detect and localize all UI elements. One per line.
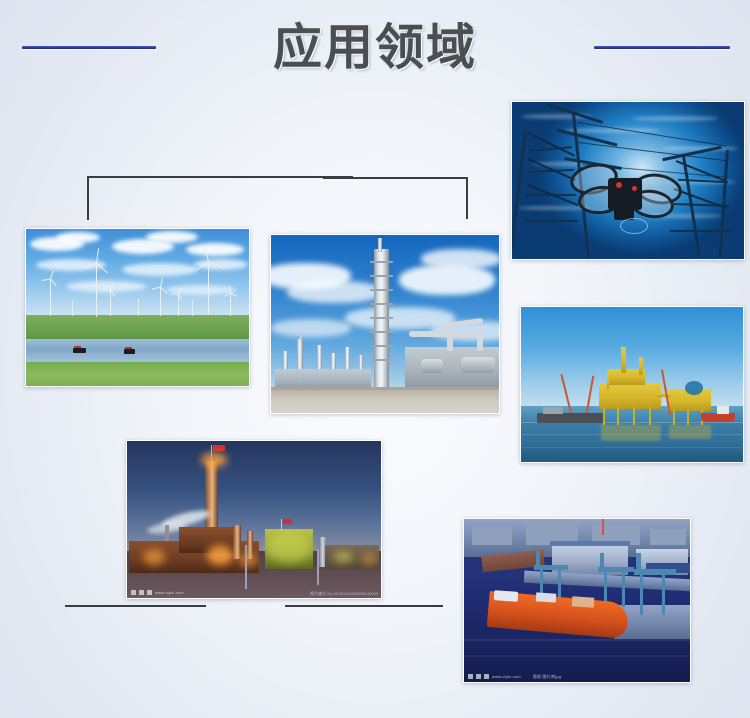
application-fields-banner: 应用领域 (0, 0, 750, 718)
wind-turbine-mast (192, 300, 193, 316)
cloud-streak (632, 116, 718, 121)
column-platform (370, 303, 393, 305)
watermark-icon (147, 590, 152, 595)
platform-leg (603, 407, 605, 425)
distillation-column (233, 525, 241, 559)
horse-figure (73, 348, 86, 353)
wind-turbine-blade (172, 294, 179, 295)
wind-turbine-mast (50, 279, 51, 316)
platform-leg (673, 409, 675, 425)
wind-turbine-mast (230, 292, 231, 316)
cloud-shape (186, 243, 244, 256)
wind-turbine-mast (72, 301, 73, 316)
drone-landing-gear (620, 218, 648, 234)
chimney-stack (602, 519, 604, 535)
ship-cargo-hatch (572, 596, 595, 608)
cloud-shape (56, 232, 100, 243)
cloud-shape (271, 319, 351, 337)
cloud-shape (122, 263, 198, 276)
lamp-glow (361, 553, 377, 565)
vertical-pipe (447, 325, 453, 351)
flag-pole (281, 519, 282, 531)
lamp-post (317, 549, 319, 585)
water-highlight (464, 655, 690, 657)
ship-superstructure (494, 590, 519, 602)
wind-turbine-mast (160, 286, 161, 316)
wind-turbine-mast (208, 261, 209, 315)
lamp-post (245, 545, 247, 589)
power-tower-scene (512, 102, 744, 259)
storage-tank (421, 359, 443, 373)
platform-leg (633, 407, 635, 425)
connector-baseline-right (285, 605, 443, 607)
lamp-glow (201, 453, 227, 467)
wind-farm-scene (26, 229, 249, 386)
lamp-glow (143, 549, 165, 565)
wave-line (521, 447, 743, 448)
power-transmission-tower-photo[interactable] (511, 101, 745, 260)
crane-tower (600, 553, 604, 569)
connecting-bridge (657, 393, 671, 397)
watermark-icon (131, 590, 136, 595)
offshore-platform-scene (521, 307, 743, 462)
port-terminal-scene: www.vipix.com 版权 图片库jpg (464, 519, 690, 682)
column-platform (370, 359, 393, 361)
title-rule-right (594, 46, 730, 49)
watermark-text: www.vipix.com (155, 590, 184, 595)
barge-superstructure (543, 407, 563, 414)
lamp-glow (239, 553, 257, 567)
vessel-bridge (717, 406, 729, 414)
terminal-building (650, 529, 686, 545)
terminal-building (472, 527, 512, 545)
tower-cross-arm (670, 230, 732, 232)
crane-boom (607, 373, 609, 389)
flare-stack (639, 357, 643, 375)
pipe-rack (409, 331, 475, 337)
connector-bracket-left-vertical (87, 176, 89, 220)
water-reflection (669, 425, 711, 439)
petrochemical-plant-scene (271, 235, 499, 413)
crane-leg (622, 571, 625, 607)
petrochemical-plant-photo[interactable] (270, 234, 500, 414)
process-unit-block (275, 369, 371, 389)
column-stack (378, 238, 382, 252)
offshore-oil-platform-photo[interactable] (520, 306, 744, 463)
ground-layer (271, 390, 499, 413)
crane-tower (536, 551, 540, 567)
vertical-pipe (477, 327, 483, 351)
wind-turbine-mast (110, 289, 111, 316)
watermark-text-secondary: 版权 图片库jpg (533, 674, 561, 680)
ship-deck-house (536, 592, 557, 602)
lamp-glow (207, 545, 233, 565)
port-terminal-photo[interactable]: www.vipix.com 版权 图片库jpg (463, 518, 691, 683)
storage-tank (461, 357, 495, 373)
foreground-meadow-layer (26, 362, 249, 386)
cloud-shape (421, 249, 500, 269)
watermark-left: www.vipix.com 版权 图片库jpg (464, 671, 690, 682)
ground-edge (271, 387, 499, 390)
connector-bracket-left (87, 176, 353, 220)
supply-vessel (701, 413, 735, 422)
connector-bracket-right-vertical (466, 177, 468, 219)
pond-layer (26, 339, 249, 364)
derrick-mast (621, 347, 626, 373)
drone-indicator-light (632, 186, 637, 191)
platform-leg (649, 407, 651, 425)
watermark-icon (468, 674, 473, 679)
support-barge (537, 413, 603, 423)
connector-bracket-right (323, 177, 468, 219)
drone-indicator-light (616, 182, 622, 188)
column-platform (370, 261, 393, 263)
connector-bracket-right-horizontal (323, 177, 468, 179)
horse-figure (124, 349, 135, 354)
warehouse-roof (550, 541, 630, 546)
flag (283, 519, 292, 524)
watermark-right: 图片编号 No.20130416385025140003 (310, 591, 378, 597)
distillation-column (374, 249, 389, 389)
crane-leg (662, 573, 665, 615)
cloud-shape (146, 231, 198, 243)
crane-leg (640, 573, 643, 615)
wind-farm-photo[interactable] (25, 228, 250, 387)
flag (213, 445, 225, 451)
watermark-icon (484, 674, 489, 679)
platform-equipment (685, 381, 703, 395)
lamp-glow (267, 533, 311, 563)
refinery-night-scene: www.vipix.com 图片编号 No.201304163850251400… (127, 441, 381, 598)
wind-turbine-mast (138, 299, 139, 316)
cloud-shape (287, 281, 383, 303)
column-platform (370, 331, 393, 333)
watermark-text: www.vipix.com (492, 674, 521, 679)
column-stack (300, 331, 302, 341)
platform-leg (687, 409, 689, 425)
connector-baseline-left (65, 605, 206, 607)
platform-leg (617, 407, 619, 425)
title-rule-left (22, 46, 156, 49)
refinery-night-photo[interactable]: www.vipix.com 图片编号 No.201304163850251400… (126, 440, 382, 599)
crane-tower (636, 553, 641, 571)
watermark-icon (476, 674, 481, 679)
column-platform (370, 275, 393, 277)
grass-ridge-layer (26, 315, 249, 340)
column-platform (370, 317, 393, 319)
water-reflection (601, 425, 661, 441)
cloud-shape (399, 265, 495, 295)
water-highlight (464, 639, 690, 641)
watermark-icon (139, 590, 144, 595)
column-platform (370, 345, 393, 347)
wind-turbine-mast (96, 262, 97, 317)
column-platform (370, 289, 393, 291)
tower-cross-arm (524, 220, 578, 222)
lamp-glow (333, 551, 353, 563)
connector-bracket-left-horizontal (87, 176, 353, 178)
